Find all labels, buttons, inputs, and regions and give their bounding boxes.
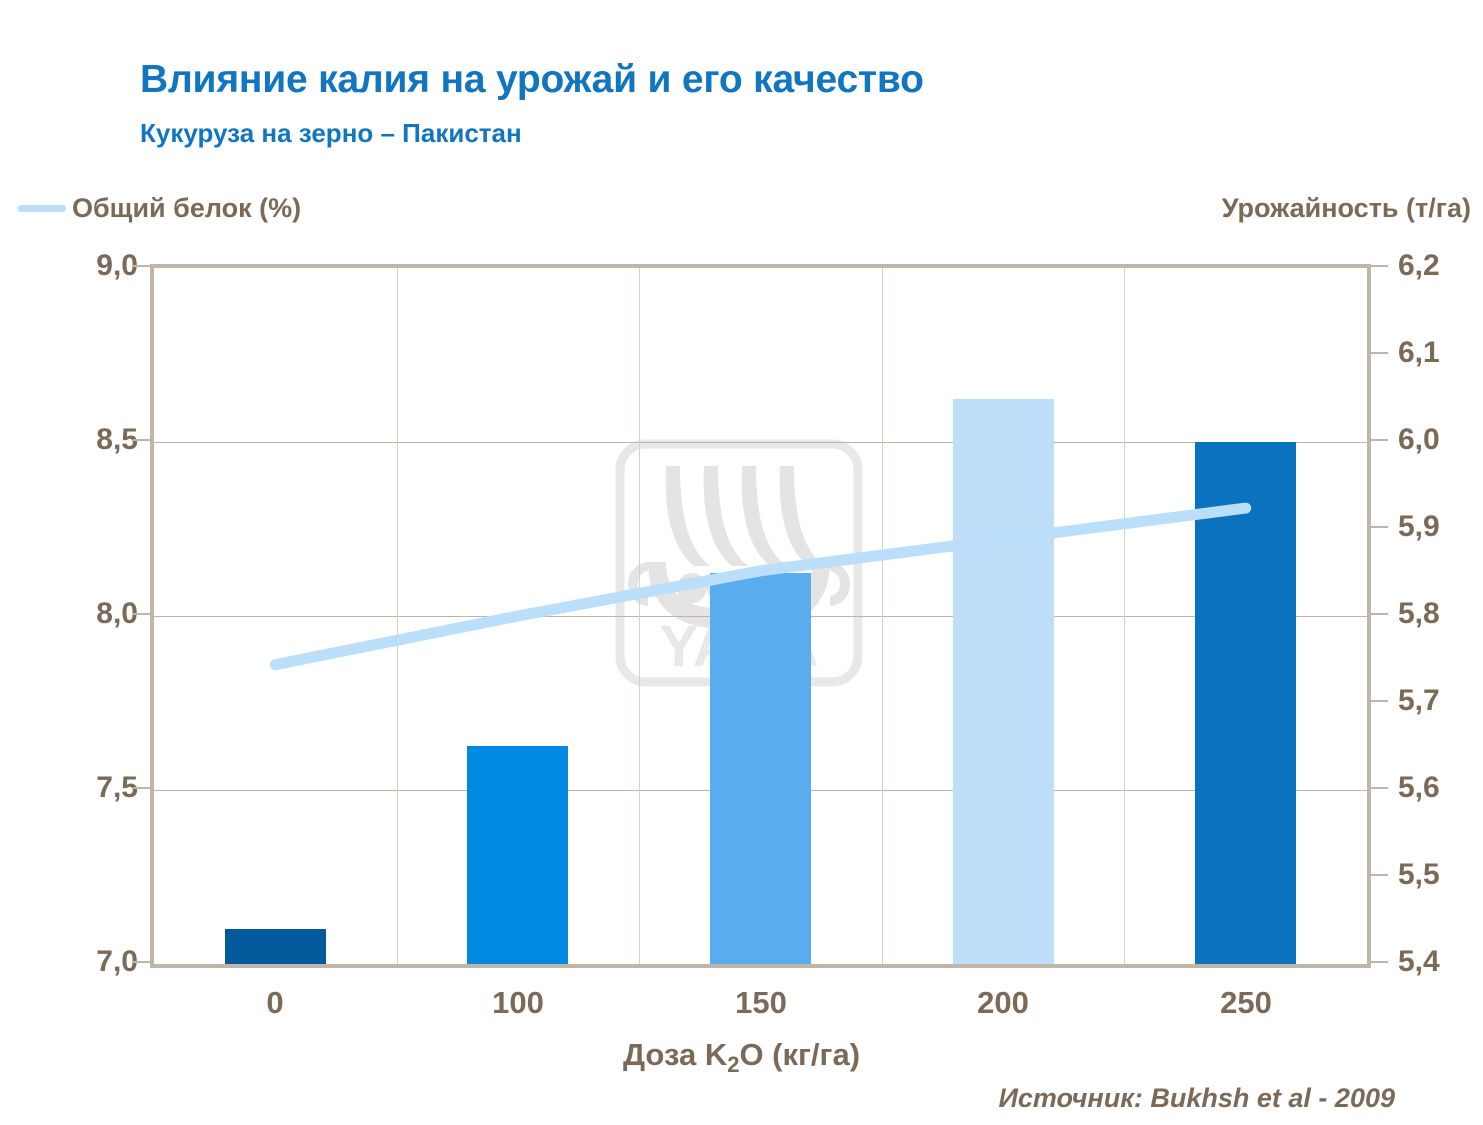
legend-protein: Общий белок (%) xyxy=(18,193,301,224)
y-axis-left-tickmark xyxy=(133,613,150,615)
y-axis-right-tick: 5,9 xyxy=(1398,510,1440,544)
x-axis-title-suffix: O (кг/га) xyxy=(739,1037,860,1072)
x-axis-title-subscript: 2 xyxy=(727,1052,739,1077)
y-axis-right-tickmark xyxy=(1371,613,1388,615)
y-axis-right-tickmark xyxy=(1371,961,1388,963)
bar-yield-100 xyxy=(467,746,568,964)
y-axis-left-tick: 7,5 xyxy=(96,771,138,805)
x-axis-tick-250: 250 xyxy=(1220,985,1272,1021)
y-axis-right-tick: 6,0 xyxy=(1398,423,1440,457)
bar-yield-250 xyxy=(1195,442,1296,964)
y-axis-left-tickmark xyxy=(133,439,150,441)
x-axis-tick-0: 0 xyxy=(266,985,283,1021)
x-axis-tick-200: 200 xyxy=(977,985,1029,1021)
x-axis-title-prefix: Доза K xyxy=(623,1037,727,1072)
x-axis-title: Доза K2O (кг/га) xyxy=(0,1037,1483,1078)
y-axis-left-tickmark xyxy=(133,961,150,963)
y-axis-right-tick: 6,1 xyxy=(1398,336,1440,370)
y-axis-right-tickmark xyxy=(1371,787,1388,789)
bar-yield-200 xyxy=(953,399,1054,964)
y-axis-right-tick: 5,7 xyxy=(1398,684,1440,718)
page-subtitle: Кукуруза на зерно – Пакистан xyxy=(140,118,522,149)
x-axis-tick-150: 150 xyxy=(735,985,787,1021)
legend-line-swatch-icon xyxy=(18,205,66,212)
y-axis-left-tickmark xyxy=(133,265,150,267)
y-axis-right-tick: 5,8 xyxy=(1398,597,1440,631)
page-title: Влияние калия на урожай и его качество xyxy=(140,58,924,102)
source-note: Источник: Bukhsh et al - 2009 xyxy=(998,1083,1395,1114)
y-axis-right-tickmark xyxy=(1371,526,1388,528)
category-separator xyxy=(639,268,640,964)
y-axis-left-tick: 8,0 xyxy=(96,597,138,631)
category-separator xyxy=(1124,268,1125,964)
y-axis-right-tickmark xyxy=(1371,700,1388,702)
y-axis-right-tickmark xyxy=(1371,265,1388,267)
y-axis-left-tickmark xyxy=(133,787,150,789)
bar-yield-0 xyxy=(225,929,326,964)
y-axis-right-tick: 5,5 xyxy=(1398,858,1440,892)
y-axis-right-tick: 6,2 xyxy=(1398,249,1440,283)
chart-page: Влияние калия на урожай и его качество К… xyxy=(0,0,1483,1125)
y-axis-right-tick: 5,6 xyxy=(1398,771,1440,805)
y-axis-left-tick: 7,0 xyxy=(96,945,138,979)
bar-yield-150 xyxy=(710,573,811,964)
legend-yield-label: Урожайность (т/га) xyxy=(1222,193,1471,224)
legend-protein-label: Общий белок (%) xyxy=(72,193,301,224)
y-axis-right-tickmark xyxy=(1371,352,1388,354)
x-axis-tick-100: 100 xyxy=(492,985,544,1021)
category-separator xyxy=(882,268,883,964)
plot-area: YARA xyxy=(150,264,1371,968)
y-axis-left-tick: 9,0 xyxy=(96,249,138,283)
y-axis-left-tick: 8,5 xyxy=(96,423,138,457)
y-axis-right-tickmark xyxy=(1371,439,1388,441)
y-axis-right-tick: 5,4 xyxy=(1398,945,1440,979)
category-separator xyxy=(397,268,398,964)
gridline xyxy=(154,442,1367,443)
y-axis-right-tickmark xyxy=(1371,874,1388,876)
